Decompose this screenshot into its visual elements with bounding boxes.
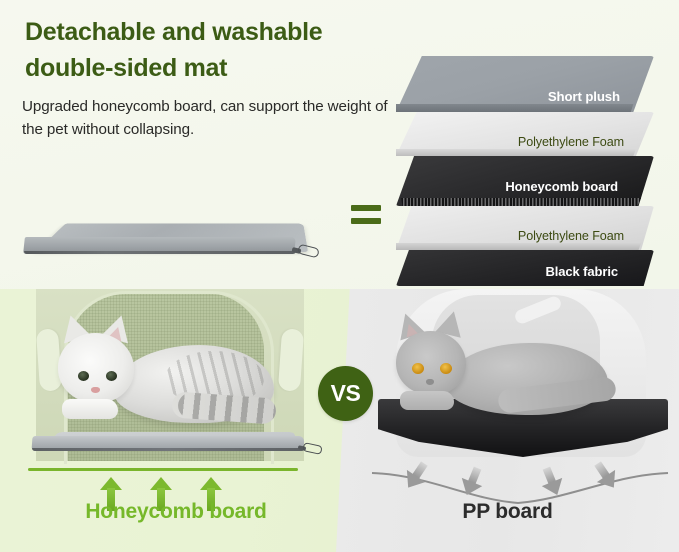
layer-label: Honeycomb board [505, 179, 618, 194]
layer-stack-diagram: Short plush Polyethylene Foam Honeycomb … [396, 56, 672, 282]
mat-seam [24, 251, 296, 254]
layer-label: Polyethylene Foam [518, 135, 624, 149]
layer-label: Short plush [548, 89, 620, 104]
layer-polyethylene-foam-bottom: Polyethylene Foam [396, 206, 654, 250]
cat-gray [394, 317, 644, 437]
layer-polyethylene-foam-top: Polyethylene Foam [396, 112, 654, 156]
layer-label: Black fabric [545, 264, 618, 279]
product-mat-illustration [8, 182, 348, 282]
cat-eye-left [78, 371, 89, 381]
layer-short-plush: Short plush [396, 56, 654, 112]
label-pp-board: PP board [336, 500, 679, 524]
infographic-page: Detachable and washable double-sided mat… [0, 0, 679, 552]
layer-honeycomb-board: Honeycomb board [396, 156, 654, 206]
cat-head [396, 331, 466, 395]
cat-paw [400, 391, 454, 410]
label-honeycomb-board: Honeycomb board [0, 500, 352, 524]
zipper-icon [298, 444, 322, 455]
cat-eye-left [412, 363, 424, 374]
zipper-icon [292, 246, 318, 258]
cat-white-silver [52, 317, 282, 449]
cat-nose [426, 379, 434, 385]
layer-black-fabric: Black fabric [396, 250, 654, 286]
equals-sign-icon [351, 205, 381, 227]
cat-nose [91, 387, 100, 393]
headline-block: Detachable and washable double-sided mat [22, 16, 402, 84]
cat-eye-right [440, 363, 452, 374]
flat-baseline [28, 468, 298, 471]
headline-line-2: double-sided mat [22, 52, 230, 84]
subtitle-text: Upgraded honeycomb board, can support th… [22, 96, 394, 142]
layer-label: Polyethylene Foam [518, 229, 624, 243]
corrugated-edge-icon [401, 198, 641, 206]
vs-badge: VS [318, 366, 373, 421]
cat-head [58, 333, 134, 403]
headline-line-1: Detachable and washable [22, 16, 325, 48]
cat-eye-right [106, 371, 117, 381]
top-section: Detachable and washable double-sided mat… [0, 0, 679, 289]
cat-paw [62, 399, 118, 419]
